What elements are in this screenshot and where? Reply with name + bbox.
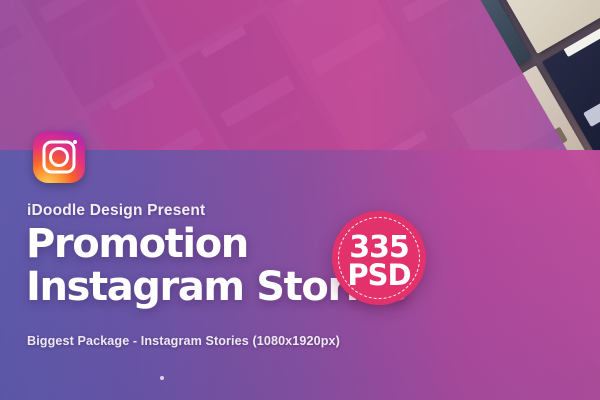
brand-eyebrow: iDoodle Design Present — [27, 202, 205, 220]
psd-count-badge: 335 PSD — [332, 211, 426, 305]
poster-content: iDoodle Design Present Promotion Instagr… — [0, 0, 600, 400]
instagram-icon — [33, 131, 85, 183]
instagram-icon-dot — [73, 140, 77, 144]
promotion-poster: iDoodle Design Present Promotion Instagr… — [0, 0, 600, 400]
badge-type: PSD — [332, 261, 426, 290]
decorative-dot — [160, 376, 164, 380]
instagram-icon-lens — [49, 147, 69, 167]
poster-tagline: Biggest Package - Instagram Stories (108… — [27, 334, 340, 348]
page-title-line-1: Promotion — [26, 224, 248, 264]
